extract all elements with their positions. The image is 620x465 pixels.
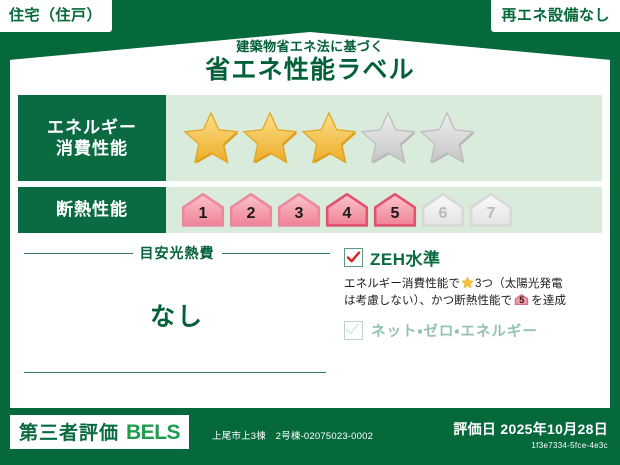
insulation-level-4: 4 (324, 192, 370, 228)
star-rating (182, 109, 476, 167)
net-zero-energy-row: ネット・ゼロ・エネルギー (344, 320, 598, 341)
insulation-chip-inline: 5 (514, 293, 529, 306)
insulation-level-3: 3 (276, 192, 322, 228)
zeh-header: ZEH水準 (344, 245, 598, 270)
zeh-title: ZEH水準 (370, 245, 441, 270)
bels-en-text: BELS (126, 421, 180, 445)
star-icon-empty (418, 109, 476, 167)
insulation-level-scale: 1234567 (180, 192, 514, 228)
insulation-level-value: 1 (199, 206, 208, 228)
insulation-level-value: 6 (439, 206, 448, 228)
utility-cost-bottom-rule (24, 372, 326, 373)
property-id: 上尾市上3棟 2号棟-02075023-0002 (212, 428, 373, 442)
rule-left (24, 253, 133, 254)
insulation-level-value: 5 (391, 206, 400, 228)
evaluation-date: 評価日 2025年10月28日 (453, 419, 608, 439)
star-icon-empty (359, 109, 417, 167)
utility-cost-value: なし (18, 297, 336, 333)
bels-logo: 第三者評価 BELS (10, 415, 189, 449)
insulation-level-value: 2 (247, 206, 256, 228)
checkmark-icon-disabled (345, 322, 360, 337)
checkmark-icon (346, 250, 361, 265)
insulation-level-2: 2 (228, 192, 274, 228)
label-footer: 第三者評価 BELS 上尾市上3棟 2号棟-02075023-0002 評価日 … (0, 408, 620, 465)
net-zero-energy-label: ネット・ゼロ・エネルギー (371, 320, 538, 341)
star-icon-filled (300, 109, 358, 167)
evaluation-serial: 1f3e7334-5fce-4e3c (453, 441, 608, 450)
rule-right (222, 253, 331, 254)
energy-performance-row: エネルギー 消費性能 (18, 95, 602, 181)
zeh-description: エネルギー消費性能で3つ（太陽光発電 は考慮しない）、かつ断熱性能で5を達成 (344, 276, 598, 311)
badge-renewable-energy: 再エネ設備なし (491, 0, 620, 32)
insulation-level-value: 7 (487, 206, 496, 228)
star-icon-inline (461, 276, 474, 289)
star-icon-filled (182, 109, 240, 167)
insulation-level-1: 1 (180, 192, 226, 228)
utility-cost-title: 目安光熱費 (140, 243, 215, 263)
insulation-level-value: 3 (295, 206, 304, 228)
lower-section: 目安光熱費 なし ZEH水準 エネルギー消費性能で3つ（太陽光発電 (18, 239, 602, 397)
insulation-level-7: 7 (468, 192, 514, 228)
bels-jp-text: 第三者評価 (19, 418, 119, 445)
energy-label-line1: エネルギー (47, 117, 137, 138)
energy-performance-label: エネルギー 消費性能 (18, 95, 166, 181)
label-title: 省エネ性能ラベル (0, 58, 620, 83)
energy-performance-label: 住宅（住戸） 再エネ設備なし 建築物省エネ法に基づく 省エネ性能ラベル エネルギ… (0, 0, 620, 465)
star-icon-filled (241, 109, 299, 167)
label-card: エネルギー 消費性能 断熱性能 1234567 目安光熱費 (10, 88, 610, 408)
insulation-performance-row: 断熱性能 1234567 (18, 187, 602, 233)
utility-cost-panel: 目安光熱費 なし (18, 239, 336, 397)
insulation-chip-value: 5 (514, 295, 529, 306)
label-title-block: 建築物省エネ法に基づく 省エネ性能ラベル (0, 40, 620, 83)
insulation-level-5: 5 (372, 192, 418, 228)
zeh-desc-part1: エネルギー消費性能で (344, 278, 460, 290)
zeh-checkbox (344, 248, 363, 267)
insulation-level-value: 4 (343, 206, 352, 228)
insulation-performance-body: 1234567 (166, 187, 602, 233)
energy-performance-body (166, 95, 602, 181)
zeh-desc-part2: は考慮しない）、かつ断熱性能で (344, 295, 512, 307)
insulation-level-6: 6 (420, 192, 466, 228)
zeh-desc-stars: 3つ（太陽光発電 (475, 278, 563, 290)
evaluation-date-block: 評価日 2025年10月28日 1f3e7334-5fce-4e3c (453, 419, 608, 450)
utility-cost-header: 目安光熱費 (18, 243, 336, 263)
zeh-panel: ZEH水準 エネルギー消費性能で3つ（太陽光発電 は考慮しない）、かつ断熱性能で… (336, 239, 602, 397)
badge-building-type: 住宅（住戸） (0, 0, 112, 32)
energy-label-line2: 消費性能 (47, 138, 137, 159)
label-subtitle: 建築物省エネ法に基づく (0, 40, 620, 53)
zeh-desc-part3: を達成 (531, 295, 566, 307)
insulation-performance-label: 断熱性能 (18, 187, 166, 233)
net-zero-checkbox (344, 321, 363, 340)
